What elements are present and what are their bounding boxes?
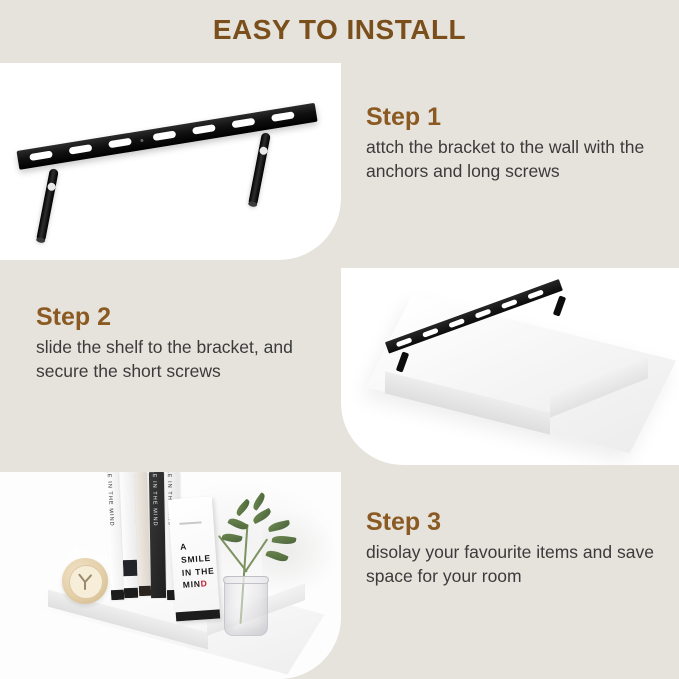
wooden-clock <box>62 558 108 604</box>
step-3-image-panel: A SMILE IN THE MIND A SMILE IN THE MIND … <box>0 472 341 679</box>
step-2-body: slide the shelf to the bracket, and secu… <box>36 336 336 384</box>
cover-title-line-1: A SMILE <box>180 541 211 564</box>
bracket-foot-right <box>553 295 566 316</box>
book-foot-band <box>139 586 151 596</box>
book-foot-band <box>124 588 138 598</box>
bracket-pin-hole <box>140 139 143 142</box>
book-spine-text: A SMILE IN THE MIND <box>150 472 157 527</box>
bracket-support-rod-right <box>248 132 271 206</box>
bracket-slot <box>396 337 413 347</box>
cover-title: A SMILE IN THE MIND <box>180 539 218 592</box>
step-3-body: disolay your favourite items and save sp… <box>366 541 671 589</box>
rod-end-cap <box>36 237 46 244</box>
cover-rule <box>179 521 201 524</box>
clock-face <box>69 565 103 599</box>
step-3-heading: Step 3 <box>366 508 671 536</box>
step-2-image-panel <box>341 268 679 465</box>
book-accent-band <box>123 560 138 576</box>
rod-collar <box>46 182 55 191</box>
vase-rim <box>223 576 269 584</box>
cover-title-accent: D <box>200 578 208 588</box>
glass-vase <box>224 576 268 636</box>
shelf-with-bracket-illustration <box>341 268 679 465</box>
bracket-rail <box>16 103 317 170</box>
bracket-slot <box>271 111 295 122</box>
infographic-page: EASY TO INSTALL Ste <box>0 0 679 679</box>
book-front-cover: A SMILE IN THE MIND <box>168 497 220 622</box>
book-foot-band <box>111 590 125 601</box>
bracket-slot <box>192 124 216 135</box>
bracket-slot <box>231 118 255 129</box>
bracket-slot <box>474 308 491 318</box>
bracket-slot <box>153 130 177 141</box>
step-1-heading: Step 1 <box>366 103 666 131</box>
step-2-text: Step 2 slide the shelf to the bracket, a… <box>36 303 336 384</box>
page-title: EASY TO INSTALL <box>0 14 679 46</box>
bracket-slot <box>448 318 465 328</box>
bracket-slot <box>29 150 53 161</box>
cover-title-line-2: IN THE <box>182 565 215 577</box>
wall-bracket-illustration <box>0 63 341 260</box>
rod-collar <box>258 146 267 155</box>
bracket-slot <box>108 138 132 149</box>
step-1-body: attch the bracket to the wall with the a… <box>366 136 666 184</box>
styled-shelf-illustration: A SMILE IN THE MIND A SMILE IN THE MIND … <box>0 472 341 679</box>
bracket-support-rod-left <box>36 168 59 242</box>
book-spine-text: A SMILE IN THE MIND <box>105 472 114 527</box>
bracket-slot <box>527 289 544 299</box>
clock-hand <box>84 581 86 590</box>
bracket-slot <box>69 144 93 155</box>
cover-title-line-3: MIN <box>182 579 201 590</box>
step-2-heading: Step 2 <box>36 303 336 331</box>
rod-end-cap <box>248 201 258 208</box>
step-3-text: Step 3 disolay your favourite items and … <box>366 508 671 589</box>
step-1-image-panel <box>0 63 341 260</box>
book-spine: A SMILE IN THE MIND <box>149 472 166 598</box>
bracket-slot <box>422 327 439 337</box>
bracket-slot <box>501 298 518 308</box>
step-1-text: Step 1 attch the bracket to the wall wit… <box>366 103 666 184</box>
